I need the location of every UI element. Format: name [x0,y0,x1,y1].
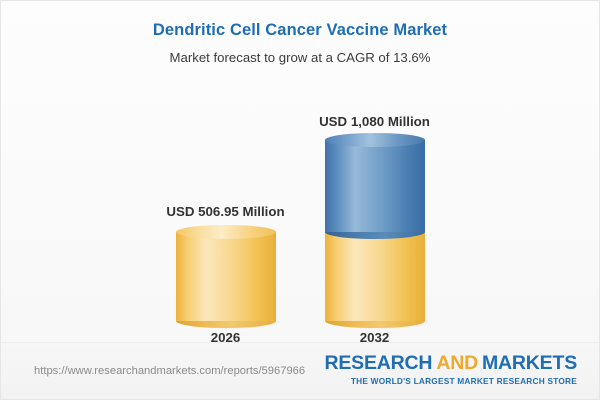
chart-footer: https://www.researchandmarkets.com/repor… [1,342,599,399]
report-url[interactable]: https://www.researchandmarkets.com/repor… [34,365,305,377]
cylinder-top-ellipse [325,133,425,147]
logo-tagline: THE WORLD'S LARGEST MARKET RESEARCH STOR… [324,376,577,386]
bar-cylinder-2026[interactable] [176,225,276,321]
logo-word-and: AND [436,352,478,374]
bar-segment-2026-base [176,225,276,321]
chart-title: Dendritic Cell Cancer Vaccine Market [1,20,599,40]
logo-word-markets: MARKETS [482,352,577,374]
cylinder-top-ellipse [176,225,276,239]
bar-value-label-2032: USD 1,080 Million [282,114,467,129]
bar-segment-2032-base [325,225,425,321]
bar-cylinder-2032[interactable] [325,133,425,321]
cylinder-body [176,232,276,321]
logo-word-research: RESEARCH [324,352,432,374]
chart-plot-area: USD 506.95 Million 2026 USD 1,080 Millio… [1,87,599,345]
chart-card: Dendritic Cell Cancer Vaccine Market Mar… [0,0,600,400]
logo-wordmark: RESEARCHANDMARKETS [324,353,577,374]
chart-header: Dendritic Cell Cancer Vaccine Market Mar… [1,1,599,66]
bar-segment-2032-growth [325,133,425,232]
cylinder-body [325,140,425,232]
research-and-markets-logo: RESEARCHANDMARKETS THE WORLD'S LARGEST M… [324,353,577,386]
cylinder-body [325,232,425,321]
chart-subtitle: Market forecast to grow at a CAGR of 13.… [1,49,599,66]
bar-value-label-2026: USD 506.95 Million [133,204,318,219]
